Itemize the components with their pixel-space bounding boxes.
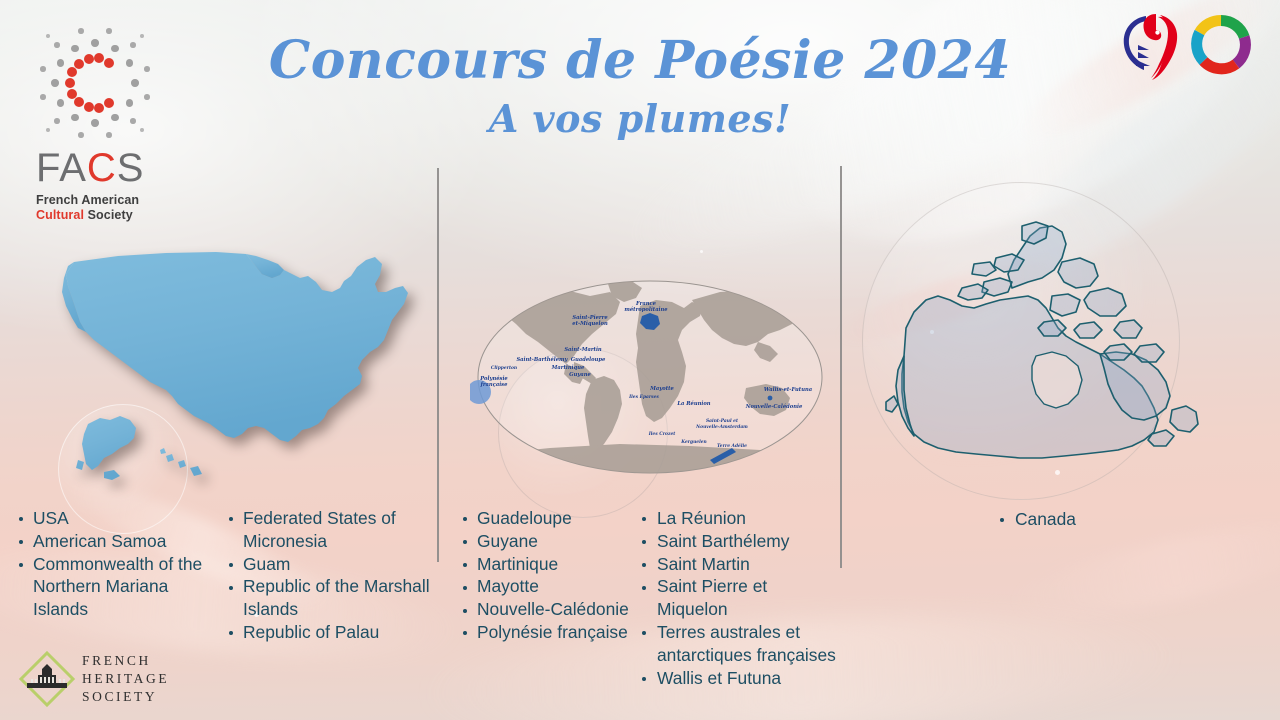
territory-list-item: Republic of the Marshall Islands — [228, 575, 440, 621]
territory-label: Wallis et Futuna — [657, 668, 781, 688]
french-heritage-society-logo: FRENCH HERITAGE SOCIETY — [18, 648, 178, 710]
territory-label: Federated States of Micronesia — [243, 508, 396, 551]
territory-list-item: Wallis et Futuna — [638, 667, 838, 690]
canada-map — [866, 196, 1216, 496]
fhs-wordmark: FRENCH HERITAGE SOCIETY — [82, 652, 169, 706]
map-label: Wallis-et-Futuna — [764, 387, 812, 393]
territory-list-item: Guadeloupe — [462, 507, 632, 530]
bullet-icon — [229, 517, 233, 521]
facs-acronym-c: C — [87, 146, 117, 190]
facs-acronym-s: S — [117, 146, 145, 190]
territory-label: American Samoa — [33, 531, 166, 551]
bullet-icon — [19, 540, 23, 544]
fhs-line2: HERITAGE — [82, 670, 169, 688]
world-map-french-territories: France métropolitaine Saint-Pierre et-Mi… — [470, 272, 830, 486]
bullet-icon — [229, 563, 233, 567]
territory-label: Republic of Palau — [243, 622, 379, 642]
bullet-icon — [463, 563, 467, 567]
territory-list: La RéunionSaint BarthélemySaint MartinSa… — [638, 507, 838, 689]
map-label: Kerguelen — [680, 440, 707, 445]
territory-label: Saint Barthélemy — [657, 531, 789, 551]
territory-list-item: Saint Barthélemy — [638, 530, 838, 553]
title-block: Concours de Poésie 2024 A vos plumes! — [0, 34, 1280, 138]
territory-label: Terres australes et antarctiques françai… — [657, 622, 836, 665]
territory-list-item: Guam — [228, 553, 440, 576]
column-divider-right — [840, 166, 842, 568]
facs-tagline-line1: French American — [36, 193, 180, 208]
territory-list-item: Saint Pierre et Miquelon — [638, 575, 838, 621]
territory-list: Canada — [996, 508, 1176, 531]
bullet-icon — [642, 586, 646, 590]
territory-column-5: Canada — [996, 508, 1176, 531]
page-subtitle: A vos plumes! — [0, 100, 1280, 138]
background-speck — [700, 250, 703, 253]
territory-list-item: Canada — [996, 508, 1176, 531]
facs-tagline: French American Cultural Society — [36, 193, 180, 224]
bullet-icon — [229, 586, 233, 590]
territory-label: Nouvelle-Calédonie — [477, 599, 629, 619]
territory-label: Martinique — [477, 554, 558, 574]
territory-list-item: Nouvelle-Calédonie — [462, 598, 632, 621]
bullet-icon — [642, 677, 646, 681]
territory-label: Canada — [1015, 509, 1076, 529]
territory-label: La Réunion — [657, 508, 746, 528]
bullet-icon — [463, 586, 467, 590]
map-label: Nouvelle-Amsterdam — [695, 425, 748, 430]
map-label: La Réunion — [676, 400, 710, 407]
territory-label: Guyane — [477, 531, 538, 551]
bullet-icon — [642, 540, 646, 544]
territory-list: GuadeloupeGuyaneMartiniqueMayotteNouvell… — [462, 507, 632, 644]
territory-column-1: USAAmerican SamoaCommonwealth of the Nor… — [18, 507, 218, 621]
fhs-diamond-building-icon — [18, 650, 76, 708]
map-label: Saint-Paul et — [706, 419, 738, 424]
map-label: Guadeloupe — [571, 357, 606, 363]
facs-tagline-cultural: Cultural — [36, 208, 84, 222]
territory-list-item: Saint Martin — [638, 553, 838, 576]
map-label: française — [480, 382, 509, 388]
facs-tagline-line2: Cultural Society — [36, 208, 180, 223]
territory-list-item: Guyane — [462, 530, 632, 553]
map-label: Saint-Barthélemy — [516, 356, 568, 363]
territory-list-item: Republic of Palau — [228, 621, 440, 644]
territory-label: USA — [33, 508, 69, 528]
map-label: Terre Adélie — [717, 444, 747, 449]
fhs-line1: FRENCH — [82, 652, 169, 670]
map-label: Clipperton — [491, 366, 517, 371]
facs-dot — [106, 28, 112, 34]
bullet-icon — [463, 517, 467, 521]
bullet-icon — [642, 517, 646, 521]
bullet-icon — [19, 563, 23, 567]
map-label: et-Miquelon — [572, 321, 608, 327]
bullet-icon — [1000, 518, 1004, 522]
map-label: métropolitaine — [624, 306, 668, 313]
territory-column-2: Federated States of MicronesiaGuamRepubl… — [228, 507, 440, 644]
map-label: Polynésie — [479, 375, 508, 382]
united-states-map — [48, 248, 430, 488]
territory-label: Saint Pierre et Miquelon — [657, 576, 767, 619]
territory-label: Republic of the Marshall Islands — [243, 576, 430, 619]
territory-list-item: La Réunion — [638, 507, 838, 530]
bullet-icon — [19, 517, 23, 521]
territory-list: Federated States of MicronesiaGuamRepubl… — [228, 507, 440, 644]
territory-label: Guam — [243, 554, 290, 574]
facs-acronym: FACS — [36, 148, 180, 188]
territory-column-4: La RéunionSaint BarthélemySaint MartinSa… — [638, 507, 838, 689]
map-label: Iles Eparses — [628, 395, 659, 400]
territory-label: Polynésie française — [477, 622, 628, 642]
territory-list-item: Mayotte — [462, 575, 632, 598]
territory-list-item: Terres australes et antarctiques françai… — [638, 621, 838, 667]
map-label: Guyane — [569, 372, 591, 378]
page-title: Concours de Poésie 2024 — [0, 34, 1280, 88]
territory-label: Saint Martin — [657, 554, 750, 574]
territory-list: USAAmerican SamoaCommonwealth of the Nor… — [18, 507, 218, 621]
map-label: Iles Crozet — [648, 432, 676, 437]
territory-list-item: Federated States of Micronesia — [228, 507, 440, 553]
facs-acronym-fa: FA — [36, 146, 87, 190]
territory-list-item: Polynésie française — [462, 621, 632, 644]
facs-tagline-society: Society — [84, 208, 133, 222]
poster-slide: FACS French American Cultural Society Co… — [0, 0, 1280, 720]
territory-list-item: Martinique — [462, 553, 632, 576]
territory-list-item: Commonwealth of the Northern Mariana Isl… — [18, 553, 218, 621]
bullet-icon — [229, 631, 233, 635]
bullet-icon — [642, 631, 646, 635]
territory-label: Guadeloupe — [477, 508, 572, 528]
territory-list-item: American Samoa — [18, 530, 218, 553]
territory-label: Mayotte — [477, 576, 539, 596]
territory-column-3: GuadeloupeGuyaneMartiniqueMayotteNouvell… — [462, 507, 632, 644]
bullet-icon — [463, 540, 467, 544]
bullet-icon — [642, 563, 646, 567]
facs-dot — [78, 28, 84, 34]
bullet-icon — [463, 631, 467, 635]
map-label: Nouvelle-Calédonie — [745, 403, 803, 410]
map-label: Mayotte — [649, 386, 674, 392]
territory-list-item: USA — [18, 507, 218, 530]
bullet-icon — [463, 609, 467, 613]
fhs-line3: SOCIETY — [82, 688, 169, 706]
map-label: Saint-Martin — [564, 347, 602, 353]
territory-label: Commonwealth of the Northern Mariana Isl… — [33, 554, 202, 620]
map-label: Martinique — [551, 365, 585, 371]
column-divider-left — [437, 168, 439, 562]
